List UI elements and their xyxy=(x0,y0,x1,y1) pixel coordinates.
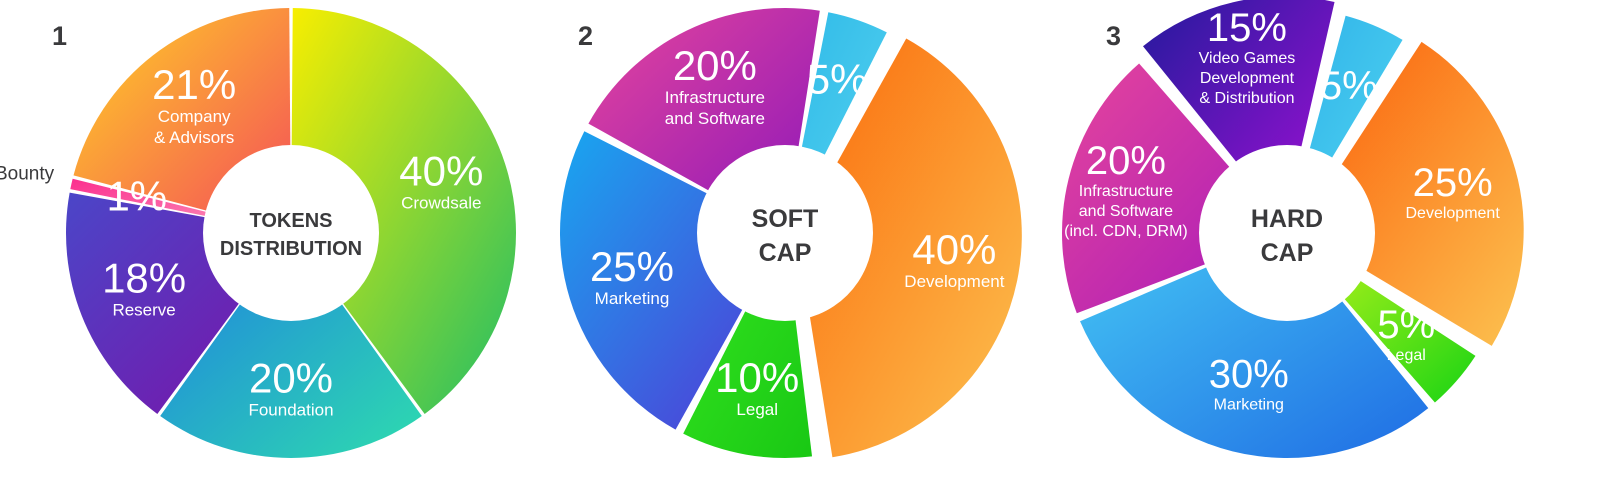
center-title-line: DISTRIBUTION xyxy=(220,238,362,260)
center-hole xyxy=(697,145,873,321)
slice-name: Marketing xyxy=(595,289,670,308)
slice-label: 5% xyxy=(1320,64,1378,108)
slice-outside-label: Bounty xyxy=(0,163,55,184)
slice-label: 1% xyxy=(106,172,167,219)
slice-name: Company xyxy=(158,107,231,126)
slice-name: Crowdsale xyxy=(401,193,481,212)
slice-percent: 10% xyxy=(715,354,799,401)
slice-label: 25%Development xyxy=(1406,161,1501,222)
slice-percent: 20% xyxy=(673,42,757,89)
slice-label: 40%Crowdsale xyxy=(399,147,483,212)
chart-panel-tokens-distribution: TOKENSDISTRIBUTION 40%Crowdsale20%Founda… xyxy=(0,0,533,484)
slice-label: 15%Video GamesDevelopment& Distribution xyxy=(1199,6,1296,107)
donut-chart-soft-cap: SOFTCAP 40%Development10%Legal25%Marketi… xyxy=(533,0,1066,484)
slice-label: 5% xyxy=(807,55,868,102)
chart-panel-hard-cap: HARDCAP 25%Development5%Legal30%Marketin… xyxy=(1066,0,1599,484)
center-title-line: HARD xyxy=(1251,205,1323,233)
panel-number: 3 xyxy=(1106,21,1121,51)
center-title-line: CAP xyxy=(1261,239,1314,267)
slice-name: Marketing xyxy=(1214,397,1284,414)
panel-number: 2 xyxy=(578,21,593,51)
slice-name: Development xyxy=(1200,70,1295,87)
slice-label: 40%Development xyxy=(904,226,1004,291)
slice-name: (incl. CDN, DRM) xyxy=(1064,223,1188,240)
slice-label: 20%Foundation xyxy=(248,354,333,419)
slice-name: and Software xyxy=(1079,203,1173,220)
slice-percent: 40% xyxy=(912,226,996,273)
slice-name: Development xyxy=(904,272,1004,291)
slice-name: Infrastructure xyxy=(665,88,765,107)
slice-percent: 20% xyxy=(249,354,333,401)
slice-percent: 30% xyxy=(1209,353,1289,397)
donut-chart-tokens-distribution: TOKENSDISTRIBUTION 40%Crowdsale20%Founda… xyxy=(0,0,533,484)
slice-percent: 20% xyxy=(1086,139,1166,183)
slice-percent: 21% xyxy=(152,61,236,108)
slice-label: 18%Reserve xyxy=(102,254,186,319)
donut-charts-row: TOKENSDISTRIBUTION 40%Crowdsale20%Founda… xyxy=(0,0,1600,484)
slice-label: 25%Marketing xyxy=(590,243,674,308)
center-hole xyxy=(203,145,379,321)
slice-name: Video Games xyxy=(1199,50,1296,67)
slice-name: Legal xyxy=(1387,347,1426,364)
center-title-line: TOKENS xyxy=(250,210,333,232)
slice-percent: 1% xyxy=(106,172,167,219)
slice-name: Legal xyxy=(736,400,778,419)
slice-percent: 25% xyxy=(1413,161,1493,205)
slice-percent: 15% xyxy=(1207,6,1287,50)
slice-percent: 25% xyxy=(590,243,674,290)
chart-panel-soft-cap: SOFTCAP 40%Development10%Legal25%Marketi… xyxy=(533,0,1066,484)
slice-name: & Advisors xyxy=(154,128,234,147)
donut-chart-hard-cap: HARDCAP 25%Development5%Legal30%Marketin… xyxy=(1066,0,1599,484)
center-title-line: SOFT xyxy=(752,205,819,233)
slice-label: 21%Company& Advisors xyxy=(152,61,236,147)
slice-percent: 40% xyxy=(399,147,483,194)
slice-percent: 5% xyxy=(807,55,868,102)
slice-percent: 5% xyxy=(1320,64,1378,108)
slice-name: and Software xyxy=(665,109,765,128)
slice-name: Development xyxy=(1406,205,1501,222)
center-title-line: CAP xyxy=(759,239,812,267)
slice-name: Reserve xyxy=(112,300,175,319)
slice-label: 20%Infrastructureand Software xyxy=(665,42,765,128)
slice-name: Foundation xyxy=(248,400,333,419)
slice-percent: 5% xyxy=(1377,303,1435,347)
slice-name: Infrastructure xyxy=(1079,183,1173,200)
slice-percent: 18% xyxy=(102,254,186,301)
slice-name: & Distribution xyxy=(1199,90,1294,107)
slice-label: 30%Marketing xyxy=(1209,353,1289,414)
center-hole xyxy=(1199,145,1375,321)
panel-number: 1 xyxy=(52,21,67,51)
